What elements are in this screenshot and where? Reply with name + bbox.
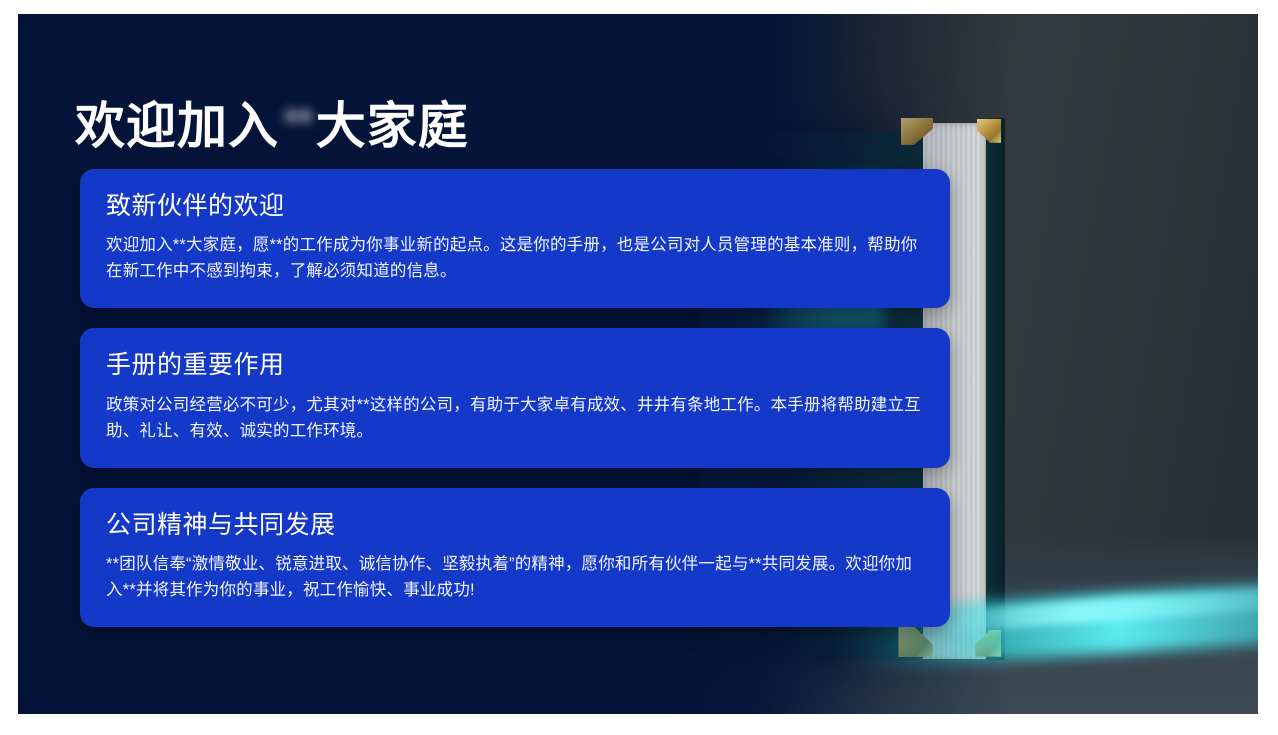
slide-content: 欢迎加入**大家庭 致新伙伴的欢迎 欢迎加入**大家庭，愿**的工作成为你事业新… (18, 14, 1258, 714)
slide-title: 欢迎加入**大家庭 (75, 98, 469, 156)
content-card[interactable]: 手册的重要作用 政策对公司经营必不可少，尤其对**这样的公司，有助于大家卓有成效… (80, 328, 950, 467)
content-card[interactable]: 公司精神与共同发展 **团队信奉“激情敬业、锐意进取、诚信协作、坚毅执着”的精神… (80, 488, 950, 627)
card-title: 手册的重要作用 (106, 350, 924, 381)
slide-title-suffix: 大家庭 (316, 98, 469, 154)
slide-title-redacted-name: ** (283, 99, 312, 147)
card-list: 致新伙伴的欢迎 欢迎加入**大家庭，愿**的工作成为你事业新的起点。这是你的手册… (80, 169, 950, 647)
presentation-slide: 欢迎加入**大家庭 致新伙伴的欢迎 欢迎加入**大家庭，愿**的工作成为你事业新… (18, 14, 1258, 714)
card-body: **团队信奉“激情敬业、锐意进取、诚信协作、坚毅执着”的精神，愿你和所有伙伴一起… (106, 551, 924, 603)
card-body: 政策对公司经营必不可少，尤其对**这样的公司，有助于大家卓有成效、井井有条地工作… (106, 392, 924, 444)
card-body: 欢迎加入**大家庭，愿**的工作成为你事业新的起点。这是你的手册，也是公司对人员… (106, 232, 924, 284)
card-title: 致新伙伴的欢迎 (106, 191, 924, 222)
slide-title-prefix: 欢迎加入 (75, 98, 279, 154)
content-card[interactable]: 致新伙伴的欢迎 欢迎加入**大家庭，愿**的工作成为你事业新的起点。这是你的手册… (80, 169, 950, 308)
card-title: 公司精神与共同发展 (106, 510, 924, 541)
